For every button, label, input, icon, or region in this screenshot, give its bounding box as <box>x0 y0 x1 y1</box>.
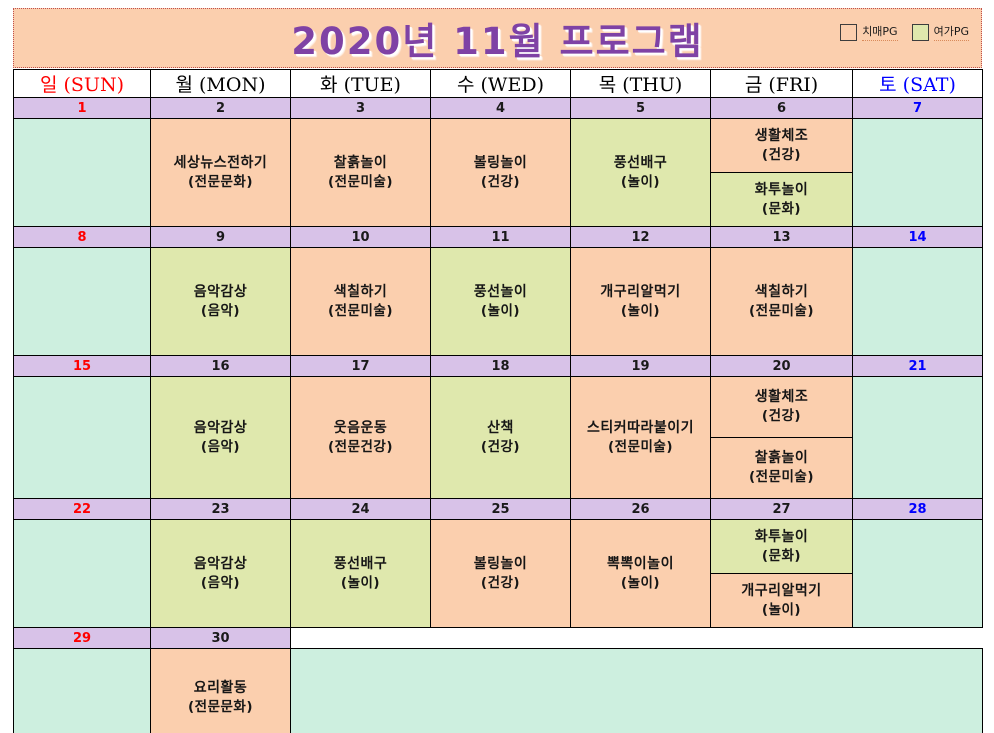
program-name: 요리활동 <box>194 679 248 698</box>
program-slot[interactable]: 생활체조(건강) <box>711 377 852 437</box>
program-category: (전문미술) <box>749 302 814 321</box>
program-row: 음악감상(음악)웃음운동(전문건강)산책(건강)스티커따라붙이기(전문미술)생활… <box>14 377 983 499</box>
day-cell-weekend-empty[interactable] <box>14 520 151 628</box>
day-cell-program[interactable]: 요리활동(전문문화) <box>151 649 291 733</box>
program-category: (전문미술) <box>328 173 393 192</box>
program-name: 색칠하기 <box>334 283 388 302</box>
program-category: (놀이) <box>621 302 660 321</box>
date-cell-tue-10[interactable]: 10 <box>291 227 431 248</box>
program-name: 개구리알먹기 <box>600 283 680 302</box>
program-category: (놀이) <box>481 302 520 321</box>
program-slot[interactable]: 뽁뽁이놀이(놀이) <box>571 520 710 627</box>
program-slot-group: 풍선놀이(놀이) <box>431 248 570 355</box>
program-slot-group: 생활체조(건강)화투놀이(문화) <box>711 119 852 226</box>
program-category: (전문미술) <box>328 302 393 321</box>
legend-swatch-chimae-icon <box>840 24 857 41</box>
day-cell-program[interactable]: 산책(건강) <box>431 377 571 499</box>
date-number-row: 22232425262728 <box>14 499 983 520</box>
page-title: 2020년 11월 프로그램 <box>291 11 703 65</box>
weekday-header-row: 일 (SUN) 월 (MON) 화 (TUE) 수 (WED) 목 (THU) … <box>14 70 983 98</box>
program-slot-group: 생활체조(건강)찰흙놀이(전문미술) <box>711 377 852 498</box>
program-row: 음악감상(음악)풍선배구(놀이)볼링놀이(건강)뽁뽁이놀이(놀이)화투놀이(문화… <box>14 520 983 628</box>
day-cell-program[interactable]: 볼링놀이(건강) <box>431 520 571 628</box>
day-cell-program[interactable]: 색칠하기(전문미술) <box>711 248 853 356</box>
calendar-table: 일 (SUN) 월 (MON) 화 (TUE) 수 (WED) 목 (THU) … <box>13 69 983 733</box>
day-cell-program[interactable]: 음악감상(음악) <box>151 520 291 628</box>
date-cell-tue-3[interactable]: 3 <box>291 98 431 119</box>
program-name: 색칠하기 <box>755 283 809 302</box>
program-slot-group: 음악감상(음악) <box>151 377 290 498</box>
program-name: 찰흙놀이 <box>755 449 809 468</box>
legend-item-chimae-pg: 치매PG <box>840 23 897 41</box>
program-slot[interactable]: 음악감상(음악) <box>151 248 290 355</box>
program-name: 스티커따라붙이기 <box>587 419 694 438</box>
program-category: (놀이) <box>762 601 801 620</box>
day-cell-program[interactable]: 세상뉴스전하기(전문문화) <box>151 119 291 227</box>
day-cell-program[interactable]: 생활체조(건강)화투놀이(문화) <box>711 119 853 227</box>
weekday-header-wed: 수 (WED) <box>431 70 571 98</box>
date-cell-mon-16[interactable]: 16 <box>151 356 291 377</box>
program-slot-group: 화투놀이(문화)개구리알먹기(놀이) <box>711 520 852 627</box>
weekday-header-thu: 목 (THU) <box>571 70 711 98</box>
day-cell-program[interactable]: 웃음운동(전문건강) <box>291 377 431 499</box>
date-cell-thu-5[interactable]: 5 <box>571 98 711 119</box>
program-name: 화투놀이 <box>755 181 809 200</box>
program-category: (음악) <box>201 574 240 593</box>
date-cell-fri-6[interactable]: 6 <box>711 98 853 119</box>
program-slot[interactable]: 음악감상(음악) <box>151 520 290 627</box>
program-slot[interactable]: 풍선놀이(놀이) <box>431 248 570 355</box>
program-category: (건강) <box>762 407 801 426</box>
date-cell-sat-7[interactable]: 7 <box>853 98 983 119</box>
program-slot[interactable]: 세상뉴스전하기(전문문화) <box>151 119 290 226</box>
program-slot[interactable]: 볼링놀이(건강) <box>431 520 570 627</box>
program-slot[interactable]: 색칠하기(전문미술) <box>711 248 852 355</box>
date-cell-thu-12[interactable]: 12 <box>571 227 711 248</box>
program-slot[interactable]: 화투놀이(문화) <box>711 172 852 226</box>
program-name: 풍선배구 <box>614 154 668 173</box>
day-cell-program[interactable]: 볼링놀이(건강) <box>431 119 571 227</box>
legend-label-chimae: 치매PG <box>862 23 897 41</box>
program-category: (놀이) <box>621 574 660 593</box>
day-cell-weekend-empty[interactable] <box>14 377 151 499</box>
date-number-row: 891011121314 <box>14 227 983 248</box>
date-number-row: 2930 <box>14 628 983 649</box>
program-name: 풍선놀이 <box>474 283 528 302</box>
program-category: (전문미술) <box>749 468 814 487</box>
date-cell-fri-27[interactable]: 27 <box>711 499 853 520</box>
program-name: 음악감상 <box>194 419 248 438</box>
weekday-header-sun: 일 (SUN) <box>14 70 151 98</box>
title-banner: 2020년 11월 프로그램 치매PG 여가PG <box>13 8 982 68</box>
program-category: (건강) <box>481 574 520 593</box>
date-cell-sat-14[interactable]: 14 <box>853 227 983 248</box>
program-category: (음악) <box>201 302 240 321</box>
calendar-page: 2020년 11월 프로그램 치매PG 여가PG 일 (SUN) 월 (MON)… <box>0 0 994 733</box>
legend: 치매PG 여가PG <box>840 23 969 41</box>
program-slot-group: 풍선배구(놀이) <box>291 520 430 627</box>
program-slot-group: 개구리알먹기(놀이) <box>571 248 710 355</box>
weekday-header-mon: 월 (MON) <box>151 70 291 98</box>
program-category: (건강) <box>481 173 520 192</box>
day-cell-program[interactable]: 풍선배구(놀이) <box>571 119 711 227</box>
program-slot[interactable]: 웃음운동(전문건강) <box>291 377 430 498</box>
program-name: 볼링놀이 <box>474 154 528 173</box>
program-name: 음악감상 <box>194 283 248 302</box>
program-category: (놀이) <box>341 574 380 593</box>
program-category: (문화) <box>762 547 801 566</box>
weekday-header-sat: 토 (SAT) <box>853 70 983 98</box>
date-cell-fri-13[interactable]: 13 <box>711 227 853 248</box>
day-cell-weekend-empty[interactable] <box>14 119 151 227</box>
program-name: 웃음운동 <box>334 419 388 438</box>
program-slot-group: 색칠하기(전문미술) <box>711 248 852 355</box>
program-slot[interactable]: 색칠하기(전문미술) <box>291 248 430 355</box>
program-slot-group: 뽁뽁이놀이(놀이) <box>571 520 710 627</box>
date-cell-thu-19[interactable]: 19 <box>571 356 711 377</box>
day-cell-program[interactable]: 개구리알먹기(놀이) <box>571 248 711 356</box>
program-slot-group: 볼링놀이(건강) <box>431 520 570 627</box>
program-slot-group: 스티커따라붙이기(전문미술) <box>571 377 710 498</box>
date-cell-tue-24[interactable]: 24 <box>291 499 431 520</box>
program-row: 음악감상(음악)색칠하기(전문미술)풍선놀이(놀이)개구리알먹기(놀이)색칠하기… <box>14 248 983 356</box>
program-category: (전문문화) <box>188 173 253 192</box>
legend-item-yeoga-pg: 여가PG <box>912 23 969 41</box>
program-slot[interactable]: 찰흙놀이(전문미술) <box>711 437 852 498</box>
day-cell-program[interactable]: 음악감상(음악) <box>151 377 291 499</box>
program-slot[interactable]: 볼링놀이(건강) <box>431 119 570 226</box>
day-cell-blank-merged[interactable] <box>291 649 983 733</box>
day-cell-program[interactable]: 화투놀이(문화)개구리알먹기(놀이) <box>711 520 853 628</box>
program-slot-group: 찰흙놀이(전문미술) <box>291 119 430 226</box>
legend-swatch-yeoga-icon <box>912 24 929 41</box>
date-cell-sat-28[interactable]: 28 <box>853 499 983 520</box>
date-cell-wed-11[interactable]: 11 <box>431 227 571 248</box>
date-cell-wed-18[interactable]: 18 <box>431 356 571 377</box>
weekday-header-tue: 화 (TUE) <box>291 70 431 98</box>
date-cell-sun-15[interactable]: 15 <box>14 356 151 377</box>
program-name: 음악감상 <box>194 555 248 574</box>
program-slot-group: 음악감상(음악) <box>151 520 290 627</box>
program-name: 찰흙놀이 <box>334 154 388 173</box>
date-cell-sun-22[interactable]: 22 <box>14 499 151 520</box>
calendar-body: 1234567세상뉴스전하기(전문문화)찰흙놀이(전문미술)볼링놀이(건강)풍선… <box>14 98 983 733</box>
date-cell-empty-merged[interactable] <box>291 628 983 649</box>
day-cell-program[interactable]: 스티커따라붙이기(전문미술) <box>571 377 711 499</box>
date-cell-sun-8[interactable]: 8 <box>14 227 151 248</box>
program-slot[interactable]: 생활체조(건강) <box>711 119 852 172</box>
date-cell-mon-30[interactable]: 30 <box>151 628 291 649</box>
program-slot-group: 풍선배구(놀이) <box>571 119 710 226</box>
program-slot[interactable]: 개구리알먹기(놀이) <box>711 573 852 627</box>
program-name: 생활체조 <box>755 388 809 407</box>
day-cell-weekend-empty[interactable] <box>14 248 151 356</box>
program-slot[interactable]: 산책(건강) <box>431 377 570 498</box>
program-category: (전문건강) <box>328 438 393 457</box>
day-cell-weekend-empty[interactable] <box>853 377 983 499</box>
date-cell-mon-2[interactable]: 2 <box>151 98 291 119</box>
program-slot-group: 볼링놀이(건강) <box>431 119 570 226</box>
program-slot[interactable]: 화투놀이(문화) <box>711 520 852 573</box>
day-cell-program[interactable]: 색칠하기(전문미술) <box>291 248 431 356</box>
date-cell-wed-4[interactable]: 4 <box>431 98 571 119</box>
weekday-header-fri: 금 (FRI) <box>711 70 853 98</box>
day-cell-weekend-empty[interactable] <box>853 119 983 227</box>
program-category: (건강) <box>481 438 520 457</box>
date-cell-tue-17[interactable]: 17 <box>291 356 431 377</box>
date-cell-sat-21[interactable]: 21 <box>853 356 983 377</box>
date-number-row: 15161718192021 <box>14 356 983 377</box>
program-name: 개구리알먹기 <box>741 582 821 601</box>
date-cell-mon-23[interactable]: 23 <box>151 499 291 520</box>
day-cell-weekend-empty[interactable] <box>853 248 983 356</box>
day-cell-program[interactable]: 생활체조(건강)찰흙놀이(전문미술) <box>711 377 853 499</box>
program-category: (놀이) <box>621 173 660 192</box>
day-cell-weekend-empty[interactable] <box>853 520 983 628</box>
date-cell-thu-26[interactable]: 26 <box>571 499 711 520</box>
program-category: (전문문화) <box>188 698 253 717</box>
program-slot-group: 음악감상(음악) <box>151 248 290 355</box>
program-category: (문화) <box>762 200 801 219</box>
date-cell-sun-1[interactable]: 1 <box>14 98 151 119</box>
date-cell-fri-20[interactable]: 20 <box>711 356 853 377</box>
date-number-row: 1234567 <box>14 98 983 119</box>
date-cell-sun-29[interactable]: 29 <box>14 628 151 649</box>
program-name: 산책 <box>487 419 514 438</box>
day-cell-program[interactable]: 풍선배구(놀이) <box>291 520 431 628</box>
program-slot[interactable]: 풍선배구(놀이) <box>571 119 710 226</box>
program-name: 생활체조 <box>755 127 809 146</box>
program-category: (건강) <box>762 146 801 165</box>
day-cell-program[interactable]: 음악감상(음악) <box>151 248 291 356</box>
program-category: (음악) <box>201 438 240 457</box>
program-slot[interactable]: 요리활동(전문문화) <box>151 649 290 733</box>
day-cell-program[interactable]: 찰흙놀이(전문미술) <box>291 119 431 227</box>
program-row: 세상뉴스전하기(전문문화)찰흙놀이(전문미술)볼링놀이(건강)풍선배구(놀이)생… <box>14 119 983 227</box>
date-cell-mon-9[interactable]: 9 <box>151 227 291 248</box>
program-slot[interactable]: 개구리알먹기(놀이) <box>571 248 710 355</box>
day-cell-program[interactable]: 뽁뽁이놀이(놀이) <box>571 520 711 628</box>
program-name: 볼링놀이 <box>474 555 528 574</box>
program-category: (전문미술) <box>608 438 673 457</box>
program-slot-group: 세상뉴스전하기(전문문화) <box>151 119 290 226</box>
program-slot[interactable]: 음악감상(음악) <box>151 377 290 498</box>
program-slot-group: 산책(건강) <box>431 377 570 498</box>
program-slot-group: 요리활동(전문문화) <box>151 649 290 733</box>
program-slot[interactable]: 스티커따라붙이기(전문미술) <box>571 377 710 498</box>
program-row: 요리활동(전문문화) <box>14 649 983 733</box>
day-cell-program[interactable]: 풍선놀이(놀이) <box>431 248 571 356</box>
program-name: 화투놀이 <box>755 528 809 547</box>
day-cell-weekend-empty[interactable] <box>14 649 151 733</box>
program-name: 세상뉴스전하기 <box>174 154 268 173</box>
program-slot[interactable]: 찰흙놀이(전문미술) <box>291 119 430 226</box>
program-name: 뽁뽁이놀이 <box>607 555 674 574</box>
legend-label-yeoga: 여가PG <box>934 23 969 41</box>
program-slot[interactable]: 풍선배구(놀이) <box>291 520 430 627</box>
date-cell-wed-25[interactable]: 25 <box>431 499 571 520</box>
program-slot-group: 색칠하기(전문미술) <box>291 248 430 355</box>
program-name: 풍선배구 <box>334 555 388 574</box>
program-slot-group: 웃음운동(전문건강) <box>291 377 430 498</box>
